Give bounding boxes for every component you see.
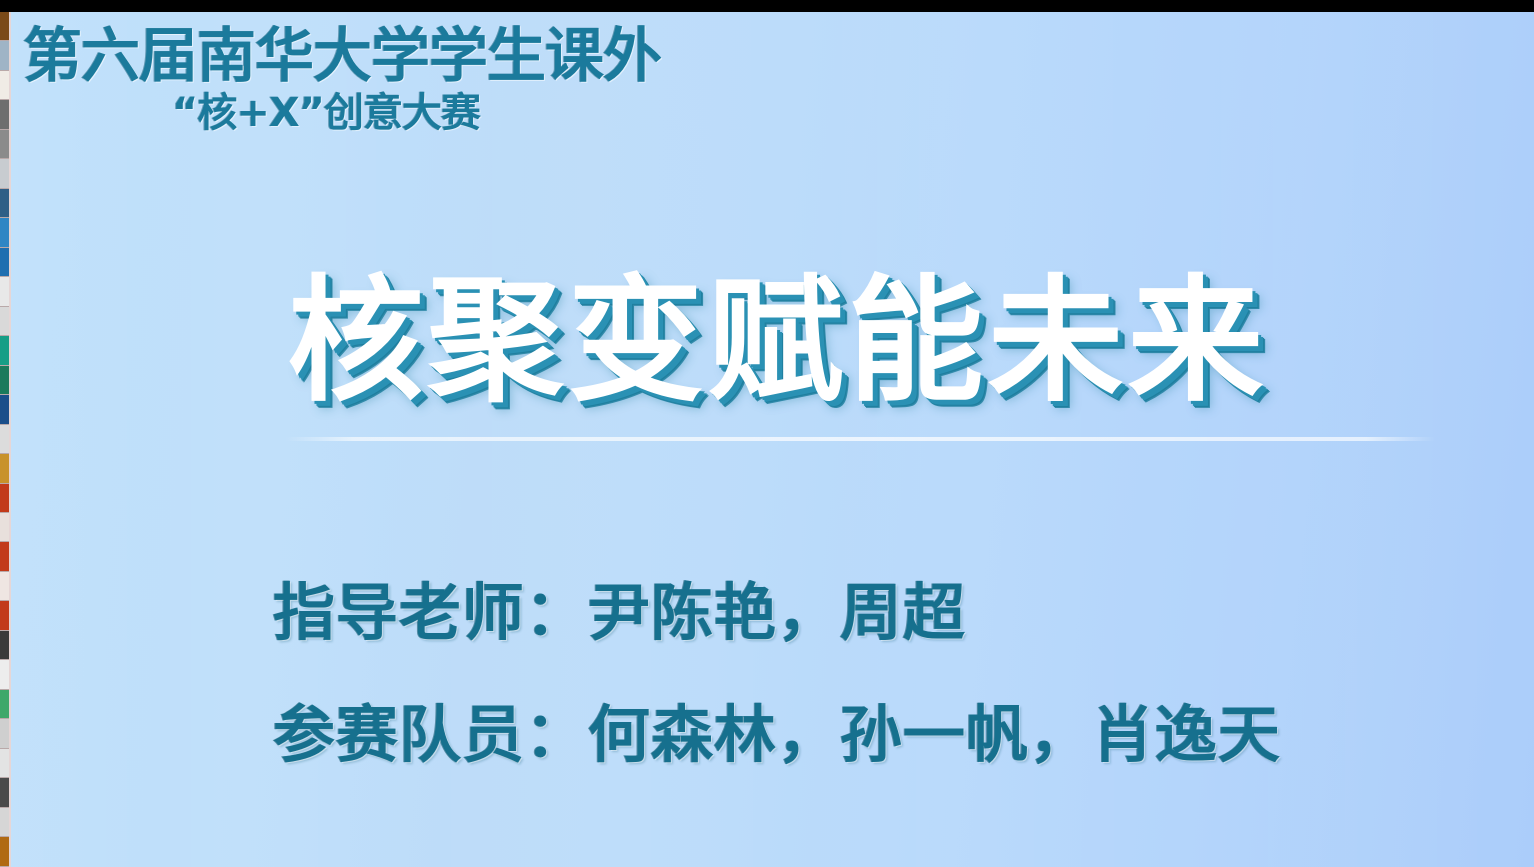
slide-thumbnail[interactable] (0, 542, 9, 571)
event-title: 第六届南华大学学生课外 (23, 26, 883, 85)
slide-thumbnail[interactable] (0, 159, 9, 188)
slide-thumbnail-list[interactable] (0, 12, 9, 867)
slide-thumbnail[interactable] (0, 808, 9, 837)
slide-headline: 核聚变赋能未来 (278, 274, 1268, 410)
slide-thumbnail[interactable] (0, 778, 9, 807)
slide-thumbnail[interactable] (0, 189, 9, 218)
slide-canvas[interactable]: 第六届南华大学学生课外 “核+X”创意大赛 核聚变赋能未来 指导老师：尹陈艳，周… (11, 12, 1534, 867)
slide-thumbnail[interactable] (0, 71, 9, 100)
slide-thumbnail[interactable] (0, 100, 9, 129)
slide-thumbnail[interactable] (0, 395, 9, 424)
slide-thumbnail[interactable] (0, 307, 9, 336)
event-header: 第六届南华大学学生课外 “核+X”创意大赛 (23, 26, 883, 133)
slide-thumbnail[interactable] (0, 690, 9, 719)
slide-thumbnail[interactable] (0, 248, 9, 277)
slide-thumbnail[interactable] (0, 484, 9, 513)
slide-thumbnail[interactable] (0, 41, 9, 70)
slide-thumbnail[interactable] (0, 513, 9, 542)
slide-thumbnail[interactable] (0, 719, 9, 748)
slide-thumbnail[interactable] (0, 749, 9, 778)
slide-thumbnail[interactable] (0, 631, 9, 660)
slide-thumbnail-strip[interactable] (0, 12, 11, 867)
credit-line-1: 指导老师：尹陈艳，周超 (273, 582, 1281, 644)
credits-block: 指导老师：尹陈艳，周超参赛队员：何森林，孙一帆，肖逸天 (273, 582, 1281, 766)
slide-thumbnail[interactable] (0, 336, 9, 365)
slide-thumbnail[interactable] (0, 837, 9, 866)
event-subtitle: “核+X”创意大赛 (23, 93, 883, 133)
slide-thumbnail[interactable] (0, 366, 9, 395)
slide-thumbnail[interactable] (0, 130, 9, 159)
slide-thumbnail[interactable] (0, 572, 9, 601)
horizontal-divider (285, 437, 1435, 441)
credit-line-2: 参赛队员：何森林，孙一帆，肖逸天 (273, 704, 1281, 766)
window-top-bar (0, 0, 1534, 12)
slide-thumbnail[interactable] (0, 425, 9, 454)
presentation-window: 第六届南华大学学生课外 “核+X”创意大赛 核聚变赋能未来 指导老师：尹陈艳，周… (0, 0, 1534, 867)
headline-container: 核聚变赋能未来 (11, 274, 1534, 410)
slide-thumbnail[interactable] (0, 218, 9, 247)
thumbnail-rail-edge (9, 12, 11, 867)
slide-thumbnail[interactable] (0, 277, 9, 306)
slide-thumbnail[interactable] (0, 601, 9, 630)
slide-thumbnail[interactable] (0, 454, 9, 483)
slide-thumbnail[interactable] (0, 12, 9, 41)
slide-thumbnail[interactable] (0, 660, 9, 689)
